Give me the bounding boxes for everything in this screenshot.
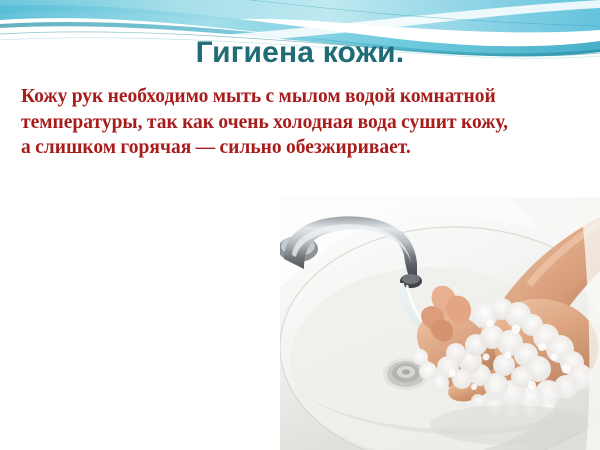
presentation-slide: Гигиена кожи. Кожу рук необходимо мыть с… (0, 0, 600, 450)
page-title: Гигиена кожи. (0, 36, 600, 70)
wave-hairline-3 (250, 0, 600, 26)
hand-washing-photo (280, 197, 600, 450)
faucet-aerator-ring (402, 274, 420, 284)
hand-shadow (430, 405, 590, 445)
body-paragraph: Кожу рук необходимо мыть с мылом водой к… (21, 84, 513, 161)
drain-center (402, 369, 410, 374)
wave-layer-sky (0, 0, 600, 40)
